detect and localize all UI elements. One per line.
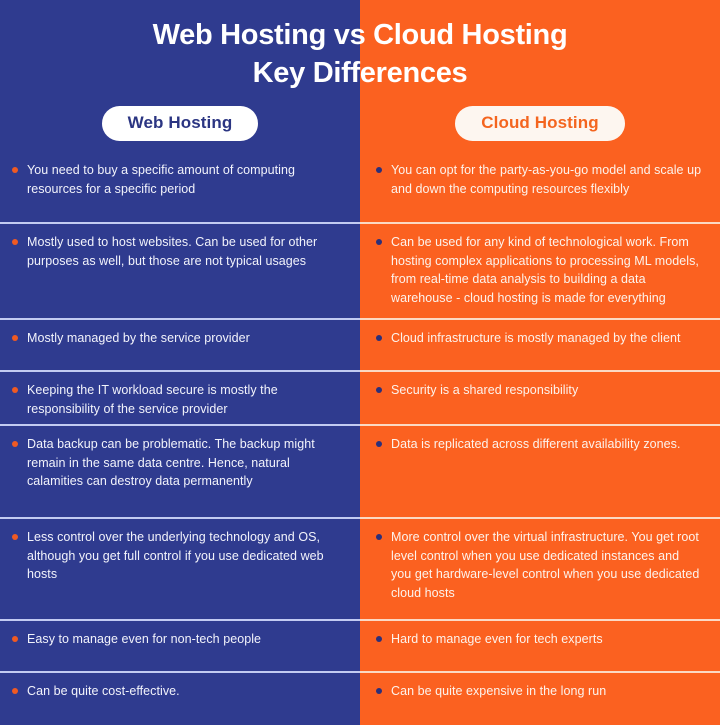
comparison-text-right: Hard to manage even for tech experts [391,630,702,649]
bullet-icon [376,335,382,341]
comparison-text-right: You can opt for the party-as-you-go mode… [391,161,702,198]
comparison-cell-left: You need to buy a specific amount of com… [0,150,360,222]
comparison-text-right: More control over the virtual infrastruc… [391,528,702,602]
bullet-icon [12,636,18,642]
comparison-text-right: Can be used for any kind of technologica… [391,233,702,307]
bullet-icon [12,167,18,173]
comparison-row: Easy to manage even for non-tech people … [0,619,720,671]
comparison-text-left: Data backup can be problematic. The back… [27,435,344,491]
column-header-cloud-hosting: Cloud Hosting [455,106,624,141]
comparison-row: Mostly managed by the service provider C… [0,318,720,370]
comparison-cell-right: Cloud infrastructure is mostly managed b… [360,318,720,370]
bullet-icon [376,636,382,642]
comparison-text-left: Mostly used to host websites. Can be use… [27,233,344,270]
comparison-cell-left: Less control over the underlying technol… [0,517,360,619]
comparison-text-left: Keeping the IT workload secure is mostly… [27,381,344,418]
bullet-icon [376,534,382,540]
bullet-icon [12,534,18,540]
comparison-text-left: Mostly managed by the service provider [27,329,344,348]
comparison-infographic: Web Hosting vs Cloud Hosting Key Differe… [0,0,720,725]
bullet-icon [376,441,382,447]
comparison-cell-left: Mostly managed by the service provider [0,318,360,370]
page-title: Web Hosting vs Cloud Hosting Key Differe… [0,16,720,93]
comparison-row: You need to buy a specific amount of com… [0,150,720,222]
comparison-cell-left: Keeping the IT workload secure is mostly… [0,370,360,424]
comparison-row: Keeping the IT workload secure is mostly… [0,370,720,424]
comparison-text-left: You need to buy a specific amount of com… [27,161,344,198]
comparison-cell-right: Security is a shared responsibility [360,370,720,424]
comparison-row: Mostly used to host websites. Can be use… [0,222,720,318]
bullet-icon [12,688,18,694]
comparison-cell-right: Hard to manage even for tech experts [360,619,720,671]
column-header-left-cell: Web Hosting [0,106,360,141]
comparison-text-left: Easy to manage even for non-tech people [27,630,344,649]
bullet-icon [376,387,382,393]
comparison-row: Can be quite cost-effective. Can be quit… [0,671,720,725]
bullet-icon [376,239,382,245]
comparison-rows: You need to buy a specific amount of com… [0,150,720,725]
column-header-web-hosting: Web Hosting [102,106,259,141]
comparison-text-right: Security is a shared responsibility [391,381,702,400]
comparison-text-right: Can be quite expensive in the long run [391,682,702,701]
comparison-text-left: Less control over the underlying technol… [27,528,344,584]
comparison-cell-right: Can be quite expensive in the long run [360,671,720,725]
comparison-cell-left: Easy to manage even for non-tech people [0,619,360,671]
comparison-text-right: Cloud infrastructure is mostly managed b… [391,329,702,348]
comparison-cell-left: Data backup can be problematic. The back… [0,424,360,517]
comparison-cell-right: Can be used for any kind of technologica… [360,222,720,318]
header: Web Hosting vs Cloud Hosting Key Differe… [0,0,720,150]
column-headers: Web Hosting Cloud Hosting [0,106,720,141]
bullet-icon [12,335,18,341]
column-header-right-cell: Cloud Hosting [360,106,720,141]
title-line-1: Web Hosting vs Cloud Hosting [40,16,680,54]
bullet-icon [12,441,18,447]
comparison-text-right: Data is replicated across different avai… [391,435,702,454]
comparison-row: Data backup can be problematic. The back… [0,424,720,517]
comparison-cell-left: Mostly used to host websites. Can be use… [0,222,360,318]
comparison-cell-right: Data is replicated across different avai… [360,424,720,517]
bullet-icon [12,387,18,393]
comparison-cell-right: You can opt for the party-as-you-go mode… [360,150,720,222]
bullet-icon [376,167,382,173]
comparison-cell-right: More control over the virtual infrastruc… [360,517,720,619]
comparison-text-left: Can be quite cost-effective. [27,682,344,701]
comparison-cell-left: Can be quite cost-effective. [0,671,360,725]
title-line-2: Key Differences [40,54,680,92]
bullet-icon [12,239,18,245]
comparison-row: Less control over the underlying technol… [0,517,720,619]
bullet-icon [376,688,382,694]
